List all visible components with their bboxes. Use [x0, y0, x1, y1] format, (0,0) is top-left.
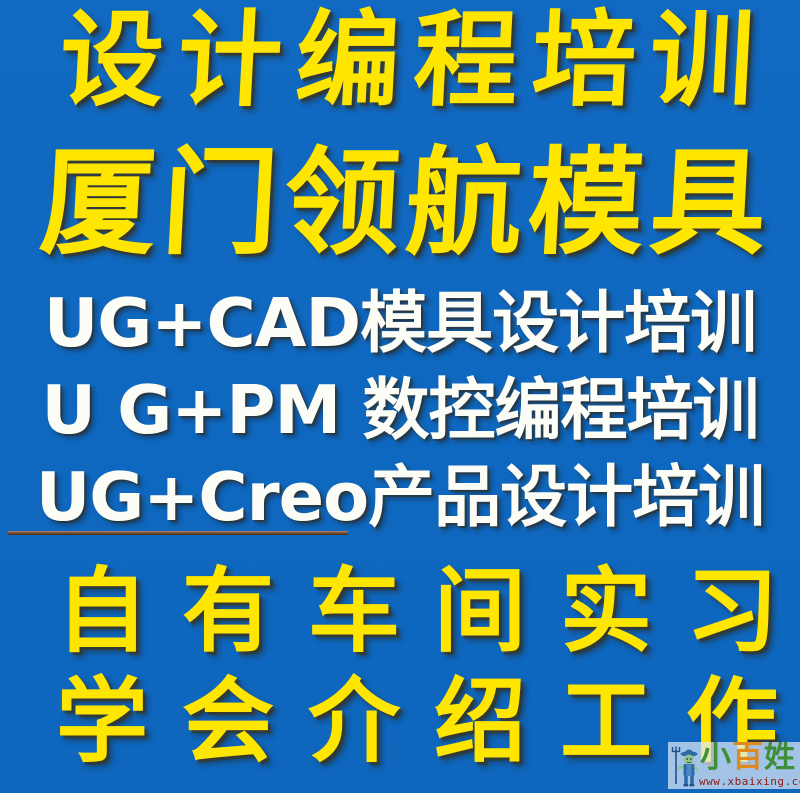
watermark-url: www.xbaixing.com	[699, 775, 800, 788]
watermark-brand-char-2: 百	[732, 742, 764, 775]
watermark-brand-char-3: 姓	[764, 742, 796, 775]
poster-canvas: 设计编程培训 厦门领航模具 UG+CAD模具设计培训 U G+PM 数控编程培训…	[0, 0, 800, 793]
watermark-row: 小百姓 www.xbaixing.com	[668, 742, 800, 789]
slogan-line-workshop-internship: 自有车间实习	[0, 566, 800, 658]
farmer-with-pitchfork-icon	[671, 744, 701, 787]
headline-line-1: 设计编程培训	[0, 8, 800, 112]
headline-line-2: 厦门领航模具	[0, 146, 800, 262]
course-line-ug-creo: UG+Creo产品设计培训	[0, 464, 800, 531]
ug-creo-underline	[8, 531, 348, 535]
course-line-ug-cad: UG+CAD模具设计培训	[0, 290, 800, 357]
watermark-brand-text: 小百姓	[700, 742, 796, 774]
watermark-badge: 小百姓 www.xbaixing.com	[668, 742, 800, 789]
course-line-ug-pm: U G+PM 数控编程培训	[0, 377, 800, 444]
watermark-brand-char-1: 小	[700, 742, 732, 775]
